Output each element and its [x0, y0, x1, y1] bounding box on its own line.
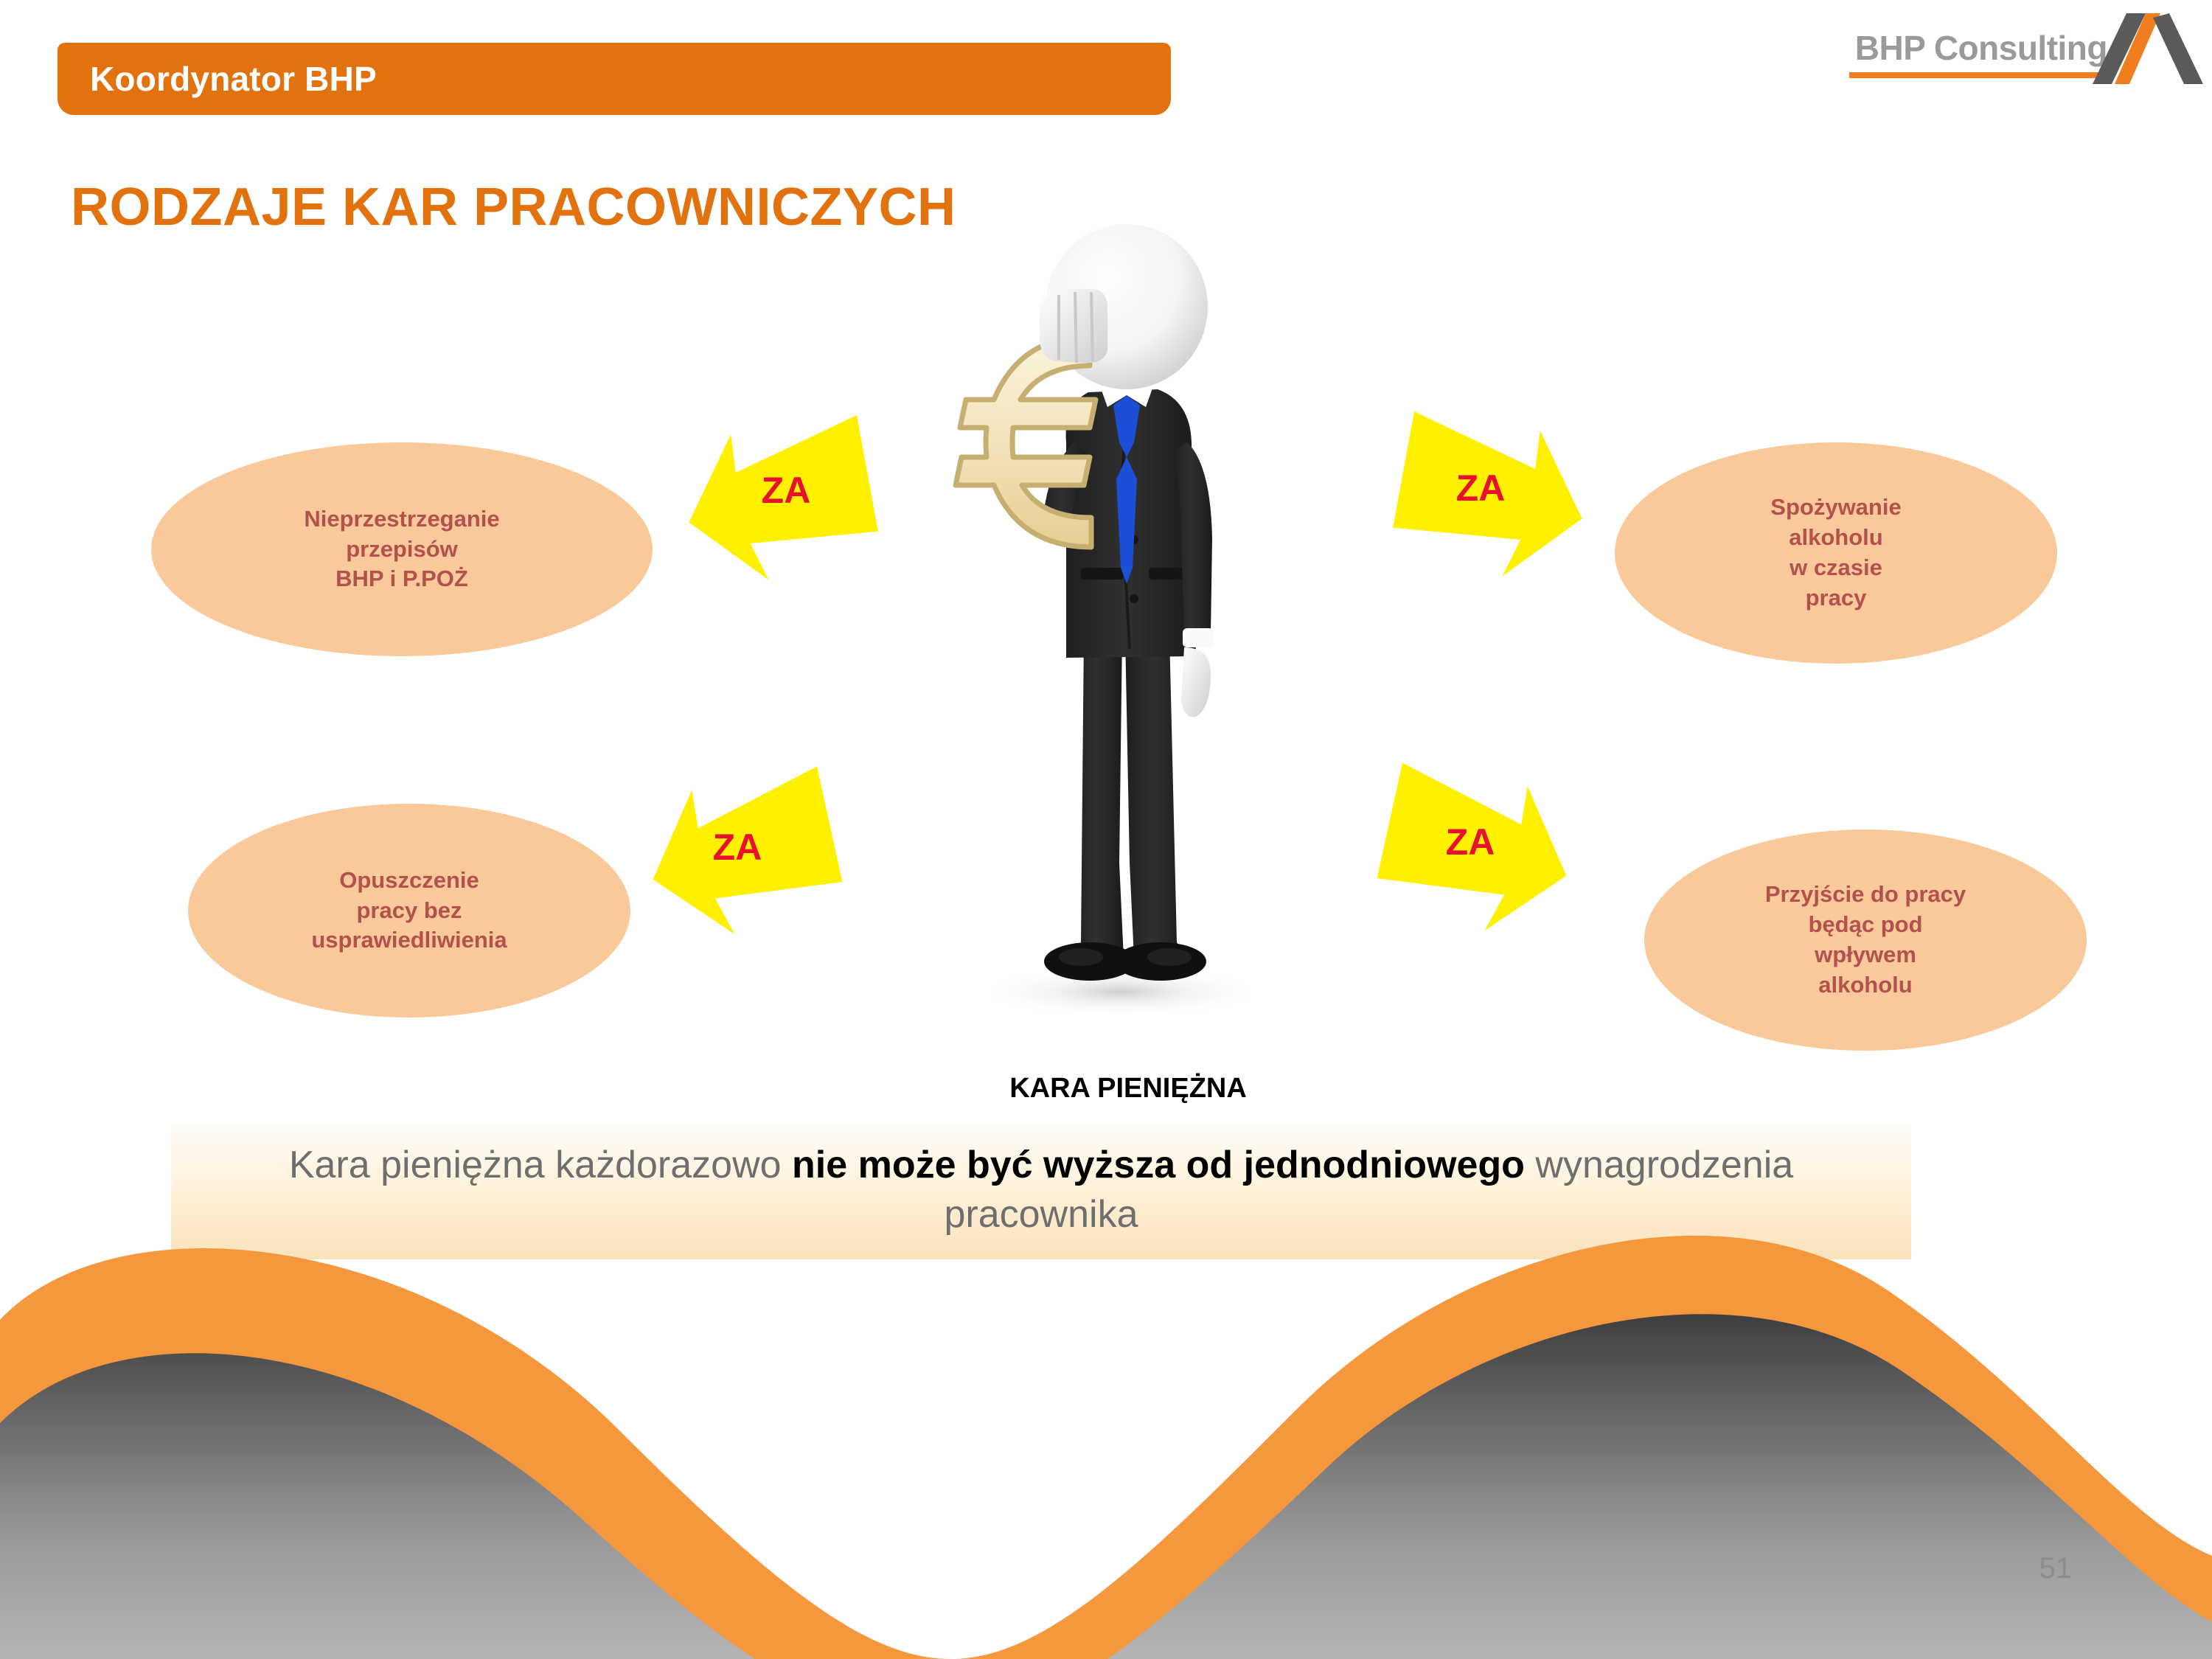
- reason-ellipse-bottom-right: Przyjście do pracy będąc pod wpływem alk…: [1644, 829, 2087, 1051]
- brand-logo: BHP Consulting: [1849, 6, 2196, 87]
- reason-ellipse-top-left: Nieprzestrzeganie przepisów BHP i P.POŻ: [151, 442, 653, 656]
- businessman-euro-illustration: [936, 221, 1320, 1032]
- arrow-right-icon: ZA: [1360, 743, 1590, 952]
- banner-part-bold: nie może być wyższa od jednodniowego: [792, 1144, 1525, 1186]
- arrow-right-icon: ZA: [1377, 392, 1601, 596]
- page-title: RODZAJE KAR PRACOWNICZYCH: [71, 177, 956, 237]
- reason-text: Nieprzestrzeganie przepisów BHP i P.POŻ: [286, 504, 517, 595]
- reason-text: Przyjście do pracy będąc pod wpływem alk…: [1747, 880, 1983, 1001]
- slide-canvas: Koordynator BHP BHP Consulting RODZAJE K…: [0, 0, 2212, 1659]
- arrow-left-icon: ZA: [669, 396, 894, 599]
- logo-underline: [1849, 72, 2112, 78]
- page-number: 51: [2039, 1552, 2073, 1585]
- figure-caption: KARA PIENIĘŻNA: [870, 1073, 1386, 1105]
- arrow-left-icon: ZA: [630, 747, 860, 956]
- reason-text: Opuszczenie pracy bez usprawiedliwienia: [293, 866, 524, 956]
- logo-text: BHP Consulting: [1849, 28, 2107, 68]
- decorative-wave: [0, 1209, 2212, 1659]
- reason-text: Spożywanie alkoholu w czasie pracy: [1753, 493, 1919, 613]
- reason-ellipse-bottom-left: Opuszczenie pracy bez usprawiedliwienia: [188, 804, 630, 1018]
- banner-part-normal-1: Kara pieniężna każdorazowo: [289, 1144, 792, 1186]
- header-title: Koordynator BHP: [90, 59, 377, 99]
- reason-ellipse-top-right: Spożywanie alkoholu w czasie pracy: [1615, 442, 2057, 664]
- header-bar: Koordynator BHP: [58, 43, 1171, 115]
- chevron-logo-icon: [2093, 13, 2203, 84]
